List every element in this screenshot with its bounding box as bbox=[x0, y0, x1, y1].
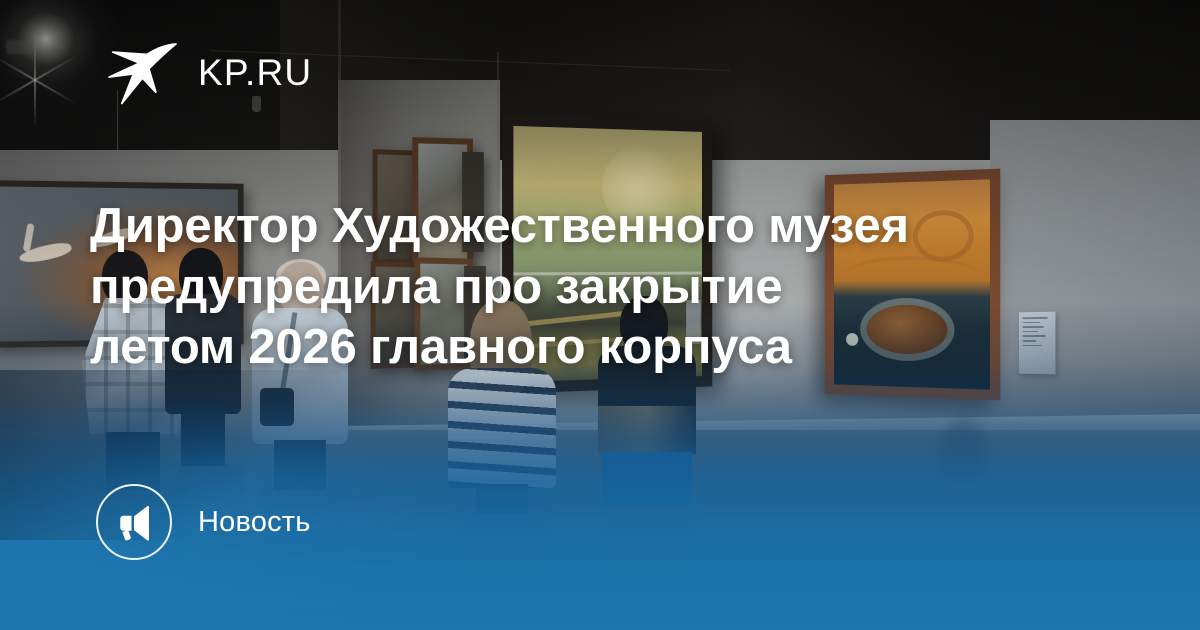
badge-circle bbox=[96, 484, 172, 560]
brand-logo[interactable]: KP.RU bbox=[104, 34, 312, 110]
status-badge[interactable]: Новость bbox=[96, 484, 311, 560]
swallow-bird-icon bbox=[104, 34, 178, 110]
brand-name: KP.RU bbox=[198, 54, 312, 91]
headline-line-2: предупредила про закрытие bbox=[90, 257, 1120, 318]
news-share-card: KP.RU Директор Художественного музея пре… bbox=[0, 0, 1200, 630]
headline-line-1: Директор Художественного музея bbox=[90, 196, 1120, 257]
badge-label: Новость bbox=[198, 506, 311, 539]
megaphone-icon bbox=[114, 502, 154, 542]
headline-line-3: летом 2026 главного корпуса bbox=[90, 317, 1120, 378]
page-title: Директор Художественного музея предупред… bbox=[90, 196, 1120, 378]
